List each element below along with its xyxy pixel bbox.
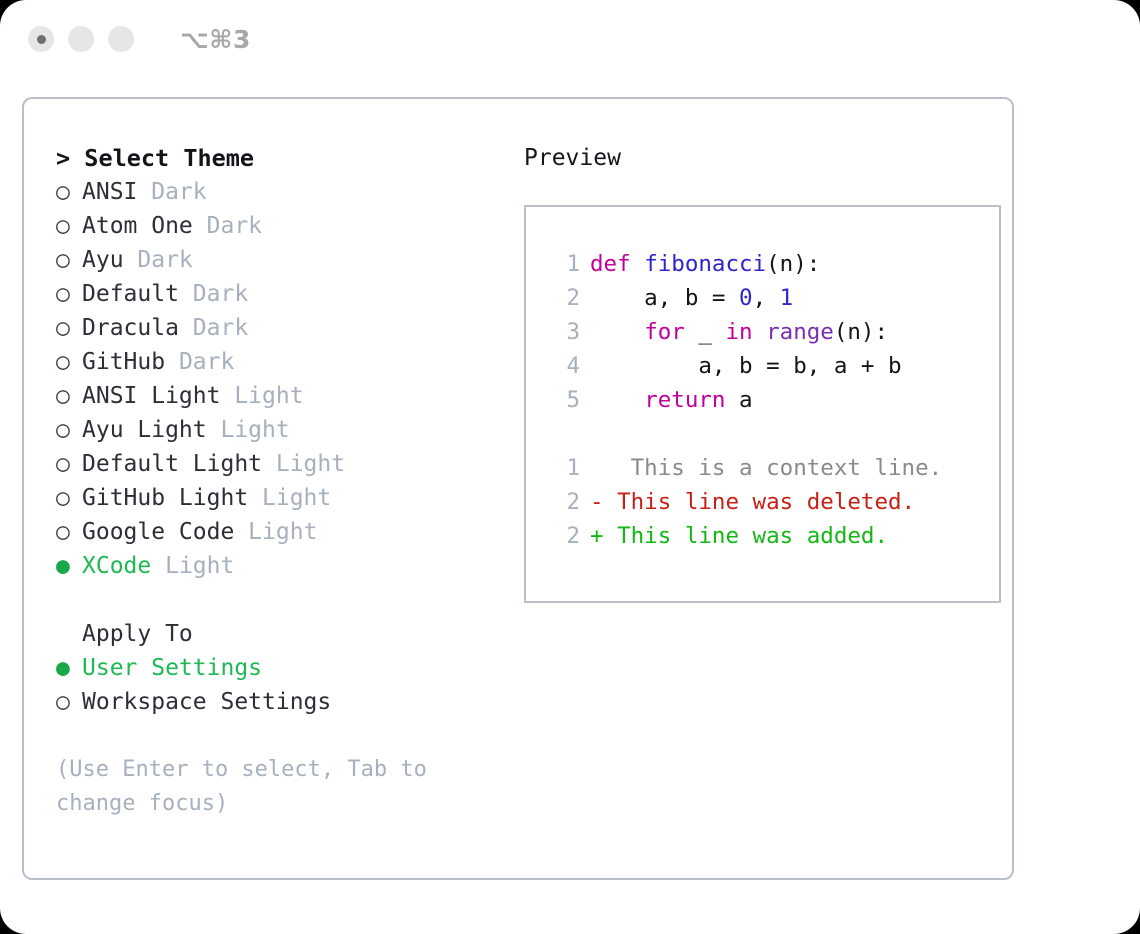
radio-unselected-icon: ○ [56,447,82,481]
theme-name: ANSI Light [82,383,220,409]
window-zoom-dot[interactable] [108,26,134,52]
code-line: 1def fibonacci(n): [546,247,999,281]
theme-list-item[interactable]: ○Default Light Light [56,447,502,481]
radio-selected-icon: ● [56,651,82,685]
code-token: def [590,251,631,277]
keyboard-hint-text: (Use Enter to select, Tab to change focu… [56,753,502,821]
line-number: 1 [546,451,580,485]
code-token: 0 [739,285,753,311]
theme-name: Google Code [82,519,234,545]
theme-variant-tag: Light [234,519,317,545]
radio-unselected-icon: ○ [56,515,82,549]
theme-variant-tag: Light [220,383,303,409]
code-token: a, b = b, a + b [590,353,902,379]
theme-list[interactable]: ○ANSI Dark○Atom One Dark○Ayu Dark○Defaul… [56,175,502,583]
preview-code-box: 1def fibonacci(n):2 a, b = 0, 13 for _ i… [524,205,1001,603]
diff-marker: + [590,523,604,549]
window-minimize-dot[interactable] [68,26,94,52]
theme-list-item[interactable]: ○Ayu Light Light [56,413,502,447]
theme-list-item[interactable]: ○ANSI Light Light [56,379,502,413]
theme-variant-tag: Light [262,451,345,477]
theme-variant-tag: Dark [165,349,234,375]
diff-line: 2+ This line was added. [546,519,999,553]
radio-unselected-icon: ○ [56,379,82,413]
code-token [753,319,767,345]
radio-unselected-icon: ○ [56,175,82,209]
diff-marker: - [590,489,604,515]
code-token: (n): [834,319,888,345]
line-number: 4 [546,349,580,383]
code-token: a [725,387,752,413]
line-number: 1 [546,247,580,281]
radio-unselected-icon: ○ [56,345,82,379]
theme-selector-panel: > Select Theme ○ANSI Dark○Atom One Dark○… [22,97,1014,880]
theme-list-item[interactable]: ○Atom One Dark [56,209,502,243]
code-token [590,319,644,345]
code-token: a, b = [590,285,739,311]
theme-variant-tag: Dark [124,247,193,273]
theme-list-column: > Select Theme ○ANSI Dark○Atom One Dark○… [40,141,502,868]
line-number: 2 [546,281,580,315]
theme-variant-tag: Dark [193,213,262,239]
theme-list-item[interactable]: ○Google Code Light [56,515,502,549]
radio-unselected-icon: ○ [56,209,82,243]
theme-name: GitHub [82,349,165,375]
code-sample: 1def fibonacci(n):2 a, b = 0, 13 for _ i… [546,247,999,417]
code-token: range [766,319,834,345]
code-token: for [644,319,685,345]
theme-variant-tag: Dark [179,315,248,341]
code-token [590,387,644,413]
theme-variant-tag: Light [248,485,331,511]
theme-name: ANSI [82,179,137,205]
theme-list-item[interactable]: ○Dracula Dark [56,311,502,345]
code-token: (n): [766,251,820,277]
theme-list-item[interactable]: ●XCode Light [56,549,502,583]
theme-variant-tag: Light [207,417,290,443]
keyboard-shortcut-badge: ⌥⌘3 [180,25,251,54]
theme-name: GitHub Light [82,485,248,511]
diff-marker [590,455,604,481]
diff-text: This line was added. [604,523,888,549]
diff-text: This is a context line. [604,455,943,481]
code-line: 5 return a [546,383,999,417]
app-window: ⌥⌘3 > Select Theme ○ANSI Dark○Atom One D… [0,0,1140,934]
code-token [631,251,645,277]
preview-column: Preview 1def fibonacci(n):2 a, b = 0, 13… [502,141,1001,868]
theme-name: Ayu [82,247,124,273]
line-number: 5 [546,383,580,417]
select-theme-heading: > Select Theme [56,141,502,175]
radio-unselected-icon: ○ [56,685,82,719]
theme-name: XCode [82,553,151,579]
apply-to-heading: Apply To [56,617,502,651]
line-number: 2 [546,485,580,519]
theme-list-item[interactable]: ○GitHub Light Light [56,481,502,515]
diff-text: This line was deleted. [604,489,916,515]
apply-to-label: User Settings [82,655,262,681]
apply-to-options[interactable]: ●User Settings○Workspace Settings [56,651,502,719]
theme-name: Atom One [82,213,193,239]
diff-sample: 1 This is a context line.2- This line wa… [546,451,999,553]
theme-name: Default Light [82,451,262,477]
radio-unselected-icon: ○ [56,243,82,277]
radio-selected-icon: ● [56,549,82,583]
code-token: _ [685,319,726,345]
theme-variant-tag: Dark [137,179,206,205]
radio-unselected-icon: ○ [56,277,82,311]
theme-list-item[interactable]: ○Ayu Dark [56,243,502,277]
radio-unselected-icon: ○ [56,481,82,515]
diff-line: 2- This line was deleted. [546,485,999,519]
theme-list-item[interactable]: ○GitHub Dark [56,345,502,379]
code-token: fibonacci [644,251,766,277]
code-line: 4 a, b = b, a + b [546,349,999,383]
theme-list-item[interactable]: ○Default Dark [56,277,502,311]
apply-to-option[interactable]: ○Workspace Settings [56,685,502,719]
theme-name: Dracula [82,315,179,341]
code-token: in [725,319,752,345]
code-token: 1 [780,285,794,311]
line-number: 2 [546,519,580,553]
line-number: 3 [546,315,580,349]
code-line: 2 a, b = 0, 1 [546,281,999,315]
preview-heading: Preview [524,141,1001,175]
apply-to-option[interactable]: ●User Settings [56,651,502,685]
radio-unselected-icon: ○ [56,311,82,345]
theme-variant-tag: Light [151,553,234,579]
radio-unselected-icon: ○ [56,413,82,447]
theme-name: Ayu Light [82,417,207,443]
window-close-dot[interactable] [28,26,54,52]
theme-name: Default [82,281,179,307]
theme-variant-tag: Dark [179,281,248,307]
code-token: return [644,387,725,413]
title-bar: ⌥⌘3 [0,0,1140,78]
diff-line: 1 This is a context line. [546,451,999,485]
theme-list-item[interactable]: ○ANSI Dark [56,175,502,209]
code-diff-separator [546,417,999,451]
apply-to-label: Workspace Settings [82,689,331,715]
code-token: , [753,285,780,311]
code-line: 3 for _ in range(n): [546,315,999,349]
